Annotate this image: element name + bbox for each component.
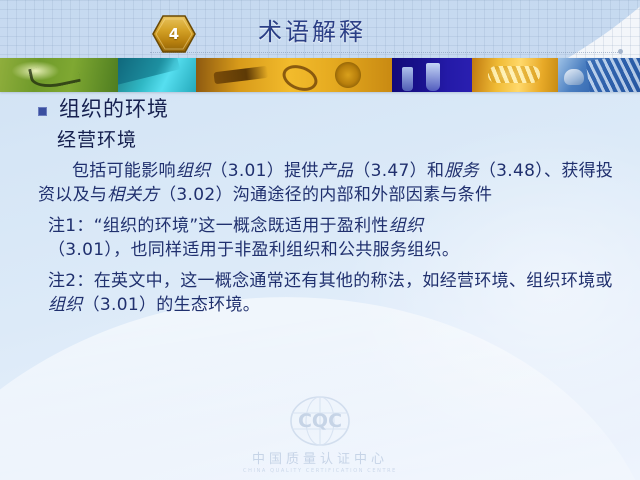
ref-302: （3.02） [159,185,233,205]
ref-301-1: （3.01） [210,161,284,181]
ref-347: （3.47） [353,161,427,181]
slide-title: 术语解释 [258,12,366,47]
term-interested-party: 相关方 [107,185,159,205]
org-name-en: CHINA QUALITY CERTIFICATION CENTRE [243,468,397,474]
definition-paragraph: 包括可能影响组织（3.01）提供产品（3.47）和服务（3.48）、获得投资以及… [0,159,640,207]
badge-number: 4 [152,15,196,53]
term-service: 服务 [444,161,479,181]
presentation-slide: 4 术语解释 组织的环境 经营环境 包括可能影响组织（3.01）提供产品（3.4… [0,0,640,480]
note-1-text-1: “组织的环境”这一概念既适用于盈利性 [94,216,389,236]
note-1-label: 注1： [48,216,94,236]
note-2-term-organization: 组织 [48,295,83,315]
paragraph-part-5: 沟通途径的内部和外部因素与条件 [233,185,493,205]
keyboard-mouse-photo [558,58,640,92]
term-organization-1: 组织 [176,161,211,181]
header-dotted-rule [150,52,620,54]
note-2: 注2：在英文中，这一概念通常还有其他的称法，如经营环境、组织环境或组织（3.01… [0,269,640,317]
term-product: 产品 [319,161,354,181]
note-1: 注1：“组织的环境”这一概念既适用于盈利性组织（3.01），也同样适用于非盈利组… [0,214,640,262]
food-photo [472,58,558,92]
paragraph-part-3: 和 [427,161,444,181]
note-2-text-2: 的生态环境。 [156,295,260,315]
note-1-term-organization: 组织 [389,216,424,236]
footer-watermark: CQC 中国质量认证中心 CHINA QUALITY CERTIFICATION… [0,396,640,474]
ref-348: （3.48） [479,161,544,181]
heading-secondary: 经营环境 [0,128,640,153]
cqc-logo-text: CQC [298,410,342,432]
heading-bullet-row: 组织的环境 [0,96,640,123]
note-1-text-2: ，也同样适用于非盈利组织和公共服务组织。 [113,240,459,260]
lab-glassware-photo [392,58,472,92]
note-1-ref-301: （3.01） [48,240,113,260]
paragraph-part-2: 提供 [284,161,319,181]
heading-primary: 组织的环境 [59,96,169,123]
slide-header: 4 术语解释 [0,0,640,58]
header-accent-dot [618,49,623,54]
org-name-cn: 中国质量认证中心 [252,448,388,467]
slide-body: 组织的环境 经营环境 包括可能影响组织（3.01）提供产品（3.47）和服务（3… [0,96,640,317]
square-bullet-icon [38,107,47,116]
gears-photo [196,58,392,92]
note-2-ref-301: （3.01） [83,295,157,315]
hexagon-badge: 4 [152,15,196,53]
field-photo [0,58,118,92]
cqc-globe-logo-icon: CQC [287,396,353,446]
photo-filmstrip [0,58,640,92]
note-2-label: 注2： [48,271,94,291]
teal-abstract-photo [118,58,196,92]
note-2-text-1: 在英文中，这一概念通常还有其他的称法，如经营环境、组织环境或 [94,271,613,291]
paragraph-part-1: 包括可能影响 [72,161,176,181]
